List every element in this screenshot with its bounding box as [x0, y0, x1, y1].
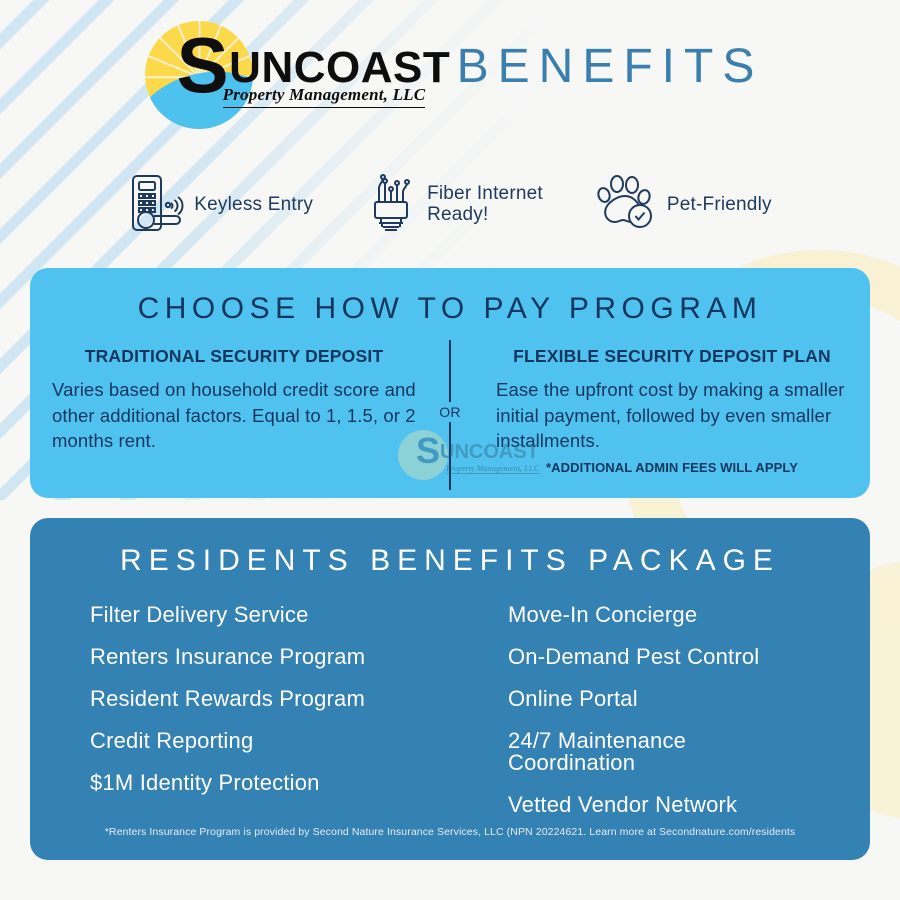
page-header: SUNCOAST Property Management, LLC BENEFI… [0, 10, 900, 130]
rbp-left-column: Filter Delivery Service Renters Insuranc… [90, 604, 450, 836]
logo-wordmark: SUNCOAST [177, 25, 451, 90]
paw-check-icon [595, 174, 657, 237]
flexible-deposit-body: Ease the upfront cost by making a smalle… [496, 377, 848, 454]
list-item: Resident Rewards Program [90, 688, 450, 710]
pay-panel-title: CHOOSE HOW TO PAY PROGRAM [30, 292, 870, 326]
renters-insurance-footnote: *Renters Insurance Program is provided b… [30, 826, 870, 838]
traditional-deposit-heading: TRADITIONAL SECURITY DEPOSIT [52, 346, 416, 367]
list-item: Filter Delivery Service [90, 604, 450, 626]
admin-fees-note: *ADDITIONAL ADMIN FEES WILL APPLY [496, 460, 848, 475]
list-item: 24/7 Maintenance Coordination [508, 730, 810, 774]
list-item: Vetted Vendor Network [508, 794, 810, 816]
list-item: Move-In Concierge [508, 604, 810, 626]
page-title: BENEFITS [457, 39, 764, 94]
feature-keyless-entry: Keyless Entry [128, 172, 313, 239]
list-item: Online Portal [508, 688, 810, 710]
feature-label-pet-friendly: Pet-Friendly [667, 195, 772, 216]
fiber-optic-cable-icon [365, 172, 417, 239]
feature-pet-friendly: Pet-Friendly [595, 174, 772, 237]
list-item: Credit Reporting [90, 730, 450, 752]
flexible-deposit-column: FLEXIBLE SECURITY DEPOSIT PLAN Ease the … [450, 346, 848, 475]
keypad-lock-icon [128, 172, 184, 239]
benefits-flyer: SUNCOAST Property Management, LLC BENEFI… [0, 0, 900, 900]
list-item: On-Demand Pest Control [508, 646, 810, 668]
feature-icon-row: Keyless Entry Fiber InternetReady! [0, 160, 900, 250]
traditional-deposit-column: TRADITIONAL SECURITY DEPOSIT Varies base… [52, 346, 450, 475]
feature-fiber-internet: Fiber InternetReady! [365, 172, 543, 239]
logo-initial: S [177, 21, 230, 109]
choose-how-to-pay-panel: CHOOSE HOW TO PAY PROGRAM OR TRADITIONAL… [30, 268, 870, 498]
flexible-deposit-heading: FLEXIBLE SECURITY DEPOSIT PLAN [496, 346, 848, 367]
rbp-columns: Filter Delivery Service Renters Insuranc… [30, 604, 870, 836]
or-label: OR [433, 402, 467, 422]
suncoast-logo: SUNCOAST Property Management, LLC [137, 11, 437, 129]
feature-label-fiber-line1: Fiber Internet [427, 183, 543, 204]
feature-label-fiber-internet: Fiber InternetReady! [427, 184, 543, 225]
rbp-right-column: Move-In Concierge On-Demand Pest Control… [450, 604, 810, 836]
logo-tagline: Property Management, LLC [223, 85, 426, 108]
feature-label-fiber-line2: Ready! [427, 204, 488, 225]
pay-columns: OR TRADITIONAL SECURITY DEPOSIT Varies b… [30, 346, 870, 475]
list-item: Renters Insurance Program [90, 646, 450, 668]
feature-label-keyless-entry: Keyless Entry [194, 195, 313, 216]
residents-benefits-package-panel: RESIDENTS BENEFITS PACKAGE Filter Delive… [30, 518, 870, 860]
traditional-deposit-body: Varies based on household credit score a… [52, 377, 416, 454]
list-item: $1M Identity Protection [90, 772, 450, 794]
rbp-panel-title: RESIDENTS BENEFITS PACKAGE [30, 544, 870, 578]
